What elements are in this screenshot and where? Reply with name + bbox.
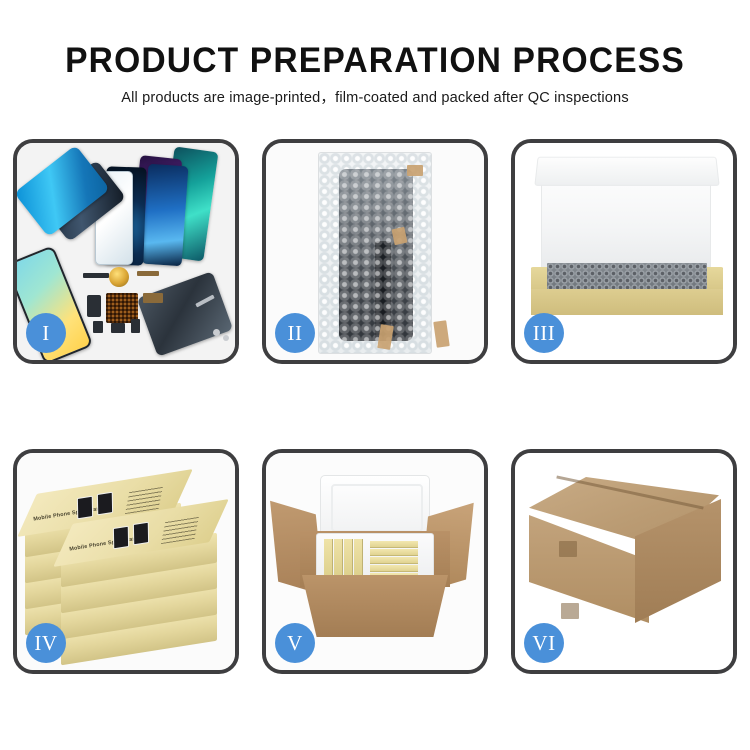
inner-box-h4: [370, 565, 418, 572]
stack-box-1-thumb-b: [97, 492, 113, 516]
process-step-grid: I II III: [13, 139, 737, 674]
flex-cable-3: [87, 295, 101, 317]
page-subtitle: All products are image-printed，film-coat…: [0, 88, 750, 108]
screw-1: [213, 329, 220, 336]
panel-sealed-carton[interactable]: VI: [511, 449, 737, 674]
flex-cable-4: [143, 293, 163, 303]
grey-foam-insert: [547, 263, 707, 290]
page-header: PRODUCT PREPARATION PROCESS All products…: [0, 0, 750, 130]
small-part-1: [93, 321, 103, 333]
stack-box-6-thumb-a: [113, 526, 129, 550]
inner-box-v2: [334, 539, 343, 577]
panel-carton-packing[interactable]: V: [262, 449, 488, 674]
tape-seal-bottom-right: [433, 320, 449, 348]
step-badge: V: [275, 623, 315, 663]
stack-box-6-thumb-b: [133, 522, 149, 546]
carton-front-wall: [302, 575, 448, 637]
flex-cable-1: [83, 273, 109, 278]
step-badge: II: [275, 313, 315, 353]
screen-assembly-inside: [339, 169, 413, 341]
step-badge: I: [26, 313, 66, 353]
inner-box-v4: [354, 539, 363, 577]
step-badge: IV: [26, 623, 66, 663]
panel-foam-inner-box[interactable]: III: [511, 139, 737, 364]
flex-cable-2: [137, 271, 159, 276]
tape-seal-top: [407, 165, 423, 176]
carton-tab-lower: [561, 603, 579, 619]
panel-bubble-wrap[interactable]: II: [262, 139, 488, 364]
inner-box-h2: [370, 549, 418, 556]
screw-2: [223, 335, 229, 341]
small-part-3: [131, 319, 140, 333]
yellow-box-front: [531, 289, 723, 315]
foam-case-lid: [320, 475, 430, 539]
speaker-module-icon: [109, 267, 129, 287]
phone-housing-back: [137, 271, 233, 357]
step-badge: III: [524, 313, 564, 353]
tape-seal-bottom-left: [377, 324, 394, 350]
carton-tab-upper: [559, 541, 577, 557]
page-title: PRODUCT PREPARATION PROCESS: [15, 41, 735, 81]
step-badge: VI: [524, 623, 564, 663]
inner-box-v3: [344, 539, 353, 577]
stack-box-1-thumb-a: [77, 496, 93, 520]
inner-box-v1: [324, 539, 333, 577]
inner-box-h3: [370, 557, 418, 564]
small-part-2: [111, 323, 125, 333]
panel-parts-overview[interactable]: I: [13, 139, 239, 364]
panel-box-stack[interactable]: Mobile Phone Spare Parts Mobile Phone Sp…: [13, 449, 239, 674]
phone-blue: [142, 164, 189, 267]
bubble-wrap-bag: [318, 152, 432, 354]
inner-box-h1: [370, 541, 418, 548]
